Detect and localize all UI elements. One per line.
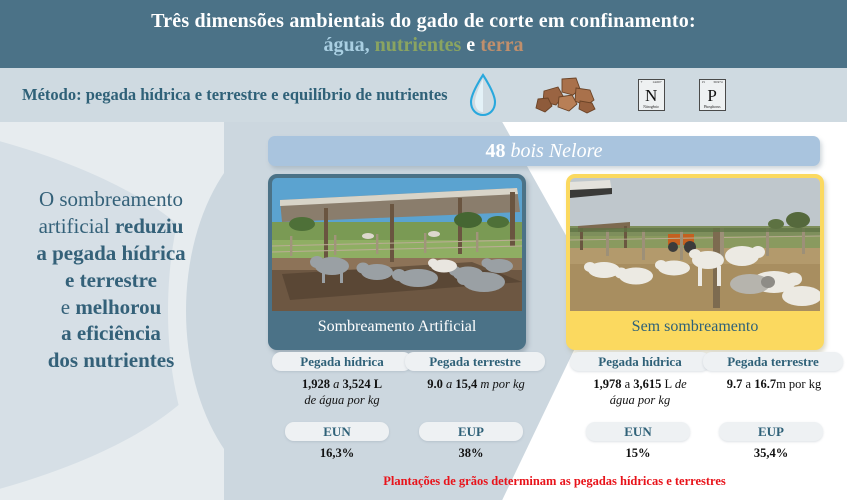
statement-line-2: artificial reduziu bbox=[4, 213, 218, 240]
statement-line-2-bold: reduziu bbox=[115, 214, 183, 238]
shaded-land-footprint-value: 9.0 a 15,4 m por kg bbox=[402, 377, 550, 393]
statement-line-7: dos nutrientes bbox=[4, 347, 218, 374]
title-bar: Três dimensões ambientais do gado de cor… bbox=[0, 0, 847, 68]
phosphorus-name: Phosphorus bbox=[700, 105, 725, 109]
shaded-land-footprint-label: Pegada terrestre bbox=[405, 352, 545, 371]
shaded-land-sep: a bbox=[443, 377, 456, 391]
phosphorus-symbol: P bbox=[707, 87, 716, 104]
unshaded-water-footprint-label: Pegada hídrica bbox=[570, 352, 710, 371]
statement-line-1: O sombreamento bbox=[4, 186, 218, 213]
shaded-cattle-photo bbox=[272, 178, 522, 311]
footnote-text: Plantações de grãos determinam as pegada… bbox=[262, 474, 847, 489]
unshaded-land-v1: 9.7 bbox=[727, 377, 743, 391]
phosphorus-element-icon: 15 30.974 P Phosphorus bbox=[699, 79, 726, 111]
nitrogen-name: Nitrogênio bbox=[639, 105, 664, 109]
shaded-water-value-line2: de água por kg bbox=[304, 393, 379, 407]
animal-breed-label: bois Nelore bbox=[510, 140, 602, 162]
statement-line-6: a eficiência bbox=[4, 320, 218, 347]
statement-line-5-light: e bbox=[61, 295, 76, 319]
shaded-water-footprint-value: 1,928 a 3,524 L de água por kg bbox=[268, 377, 416, 408]
shaded-land-v2: 15,4 bbox=[455, 377, 477, 391]
soil-clods-icon bbox=[532, 75, 604, 115]
title-word-nutrientes: nutrientes bbox=[375, 34, 462, 56]
statement-line-2-light: artificial bbox=[39, 214, 115, 238]
unshaded-water-value-line2: água por kg bbox=[610, 393, 670, 407]
title-subline: água, nutrientes e terra bbox=[324, 34, 524, 57]
nitrogen-atomic-number: 7 bbox=[641, 80, 643, 84]
key-finding-statement: O sombreamento artificial reduziu a pega… bbox=[4, 186, 218, 374]
unshaded-eup-label: EUP bbox=[719, 422, 823, 441]
statement-line-5: e melhorou bbox=[4, 294, 218, 321]
unshaded-water-v1: 1,978 bbox=[593, 377, 621, 391]
shaded-eun-value-text: 16,3% bbox=[320, 446, 354, 460]
infographic-canvas: Três dimensões ambientais do gado de cor… bbox=[0, 0, 847, 500]
shaded-eup-value: 38% bbox=[419, 446, 523, 462]
title-word-e: e bbox=[466, 34, 475, 56]
shaded-water-v2: 3,524 bbox=[343, 377, 371, 391]
unshaded-land-sep: a bbox=[742, 377, 754, 391]
shaded-eun-label: EUN bbox=[285, 422, 389, 441]
unshaded-water-unit: L bbox=[661, 377, 674, 391]
shaded-eup-value-text: 38% bbox=[459, 446, 484, 460]
statement-line-3: a pegada hídrica bbox=[4, 240, 218, 267]
unshaded-eun-label: EUN bbox=[586, 422, 690, 441]
title-comma: , bbox=[365, 34, 370, 56]
statement-line-4: e terrestre bbox=[4, 267, 218, 294]
nitrogen-symbol: N bbox=[645, 87, 657, 104]
unshaded-water-footprint-value: 1,978 a 3,615 L de água por kg bbox=[566, 377, 714, 408]
title-word-agua: água bbox=[324, 34, 365, 56]
method-bar: Método: pegada hídrica e terrestre e equ… bbox=[0, 68, 847, 122]
treatment-card-shaded: Sombreamento Artificial bbox=[268, 174, 526, 350]
unshaded-eup-value-text: 35,4% bbox=[754, 446, 788, 460]
statement-line-5-bold: melhorou bbox=[75, 295, 161, 319]
shaded-caption: Sombreamento Artificial bbox=[272, 311, 522, 342]
unshaded-water-de: de bbox=[675, 377, 687, 391]
unshaded-eun-value-text: 15% bbox=[626, 446, 651, 460]
shaded-water-unit: L bbox=[371, 377, 382, 391]
nitrogen-atomic-weight: 14.007 bbox=[652, 80, 661, 84]
method-icon-group: 7 14.007 N Nitrogênio 15 30.974 P Phosph… bbox=[468, 73, 726, 117]
phosphorus-atomic-weight: 30.974 bbox=[713, 80, 722, 84]
unshaded-land-footprint-label: Pegada terrestre bbox=[703, 352, 843, 371]
animal-count-banner: 48 bois Nelore bbox=[268, 136, 820, 166]
unshaded-caption: Sem sombreamento bbox=[570, 311, 820, 342]
shaded-water-v1: 1,928 bbox=[302, 377, 330, 391]
title-word-terra: terra bbox=[480, 34, 523, 56]
shaded-land-unit: m por kg bbox=[477, 377, 525, 391]
unshaded-cattle-photo bbox=[570, 178, 820, 311]
shaded-water-sep: a bbox=[330, 377, 343, 391]
shaded-eup-label: EUP bbox=[419, 422, 523, 441]
method-label: Método: pegada hídrica e terrestre e equ… bbox=[22, 85, 448, 105]
phosphorus-atomic-number: 15 bbox=[702, 80, 705, 84]
unshaded-land-v2: 16.7 bbox=[754, 377, 776, 391]
unshaded-water-v2: 3,615 bbox=[633, 377, 661, 391]
shaded-eun-value: 16,3% bbox=[285, 446, 389, 462]
unshaded-eun-value: 15% bbox=[586, 446, 690, 462]
unshaded-land-footprint-value: 9.7 a 16.7m por kg bbox=[700, 377, 847, 393]
nitrogen-element-icon: 7 14.007 N Nitrogênio bbox=[638, 79, 665, 111]
water-drop-icon bbox=[468, 73, 498, 117]
shaded-water-footprint-label: Pegada hídrica bbox=[272, 352, 412, 371]
page-title: Três dimensões ambientais do gado de cor… bbox=[151, 11, 696, 32]
treatment-card-unshaded: Sem sombreamento bbox=[566, 174, 824, 350]
unshaded-eup-value: 35,4% bbox=[719, 446, 823, 462]
unshaded-land-unit: m por kg bbox=[776, 377, 821, 391]
animal-count-number: 48 bbox=[485, 140, 505, 162]
unshaded-water-sep: a bbox=[621, 377, 633, 391]
shaded-land-v1: 9.0 bbox=[427, 377, 443, 391]
animal-count-text: 48 bois Nelore bbox=[485, 140, 602, 163]
